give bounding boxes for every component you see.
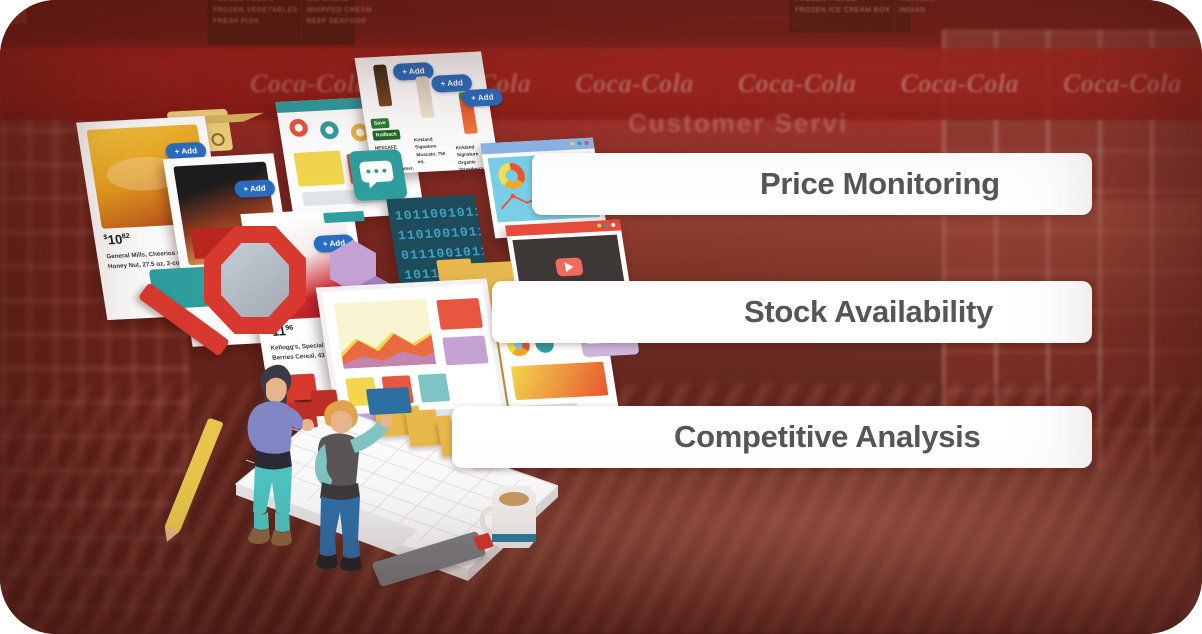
vignette-overlay bbox=[0, 0, 1202, 634]
hero-illustration-stage: Coca-Cola Coca-Cola Coca-Cola Coca-Cola … bbox=[0, 0, 1202, 634]
